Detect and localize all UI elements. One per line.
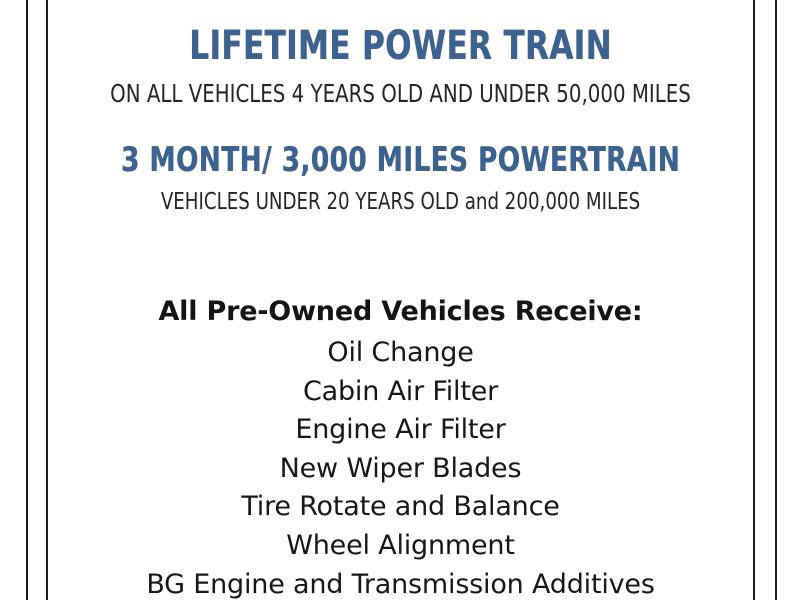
service-item: Wheel Alignment xyxy=(48,527,753,566)
frame-rule-right-inner xyxy=(753,0,755,600)
services-heading: All Pre-Owned Vehicles Receive: xyxy=(48,298,753,325)
service-item: Engine Air Filter xyxy=(48,411,753,450)
services-list: Oil ChangeCabin Air FilterEngine Air Fil… xyxy=(48,334,753,600)
warranty-primary-terms: ON ALL VEHICLES 4 YEARS OLD AND UNDER 50… xyxy=(90,81,710,106)
warranty-primary-title: LIFETIME POWER TRAIN xyxy=(97,26,703,66)
poster-content: LIFETIME POWER TRAIN ON ALL VEHICLES 4 Y… xyxy=(48,0,753,600)
dealership-warranty-poster: LIFETIME POWER TRAIN ON ALL VEHICLES 4 Y… xyxy=(0,0,800,600)
service-item: Cabin Air Filter xyxy=(48,373,753,412)
service-item: New Wiper Blades xyxy=(48,450,753,489)
frame-rule-left-outer xyxy=(26,0,28,600)
frame-rule-right-outer xyxy=(775,0,777,600)
warranty-secondary-terms: VEHICLES UNDER 20 YEARS OLD and 200,000 … xyxy=(90,191,710,214)
warranty-secondary-title: 3 MONTH/ 3,000 MILES POWERTRAIN xyxy=(97,143,703,177)
service-item: Oil Change xyxy=(48,334,753,373)
service-item: Tire Rotate and Balance xyxy=(48,488,753,527)
service-item: BG Engine and Transmission Additives xyxy=(48,566,753,600)
services-section: All Pre-Owned Vehicles Receive: Oil Chan… xyxy=(48,298,753,600)
